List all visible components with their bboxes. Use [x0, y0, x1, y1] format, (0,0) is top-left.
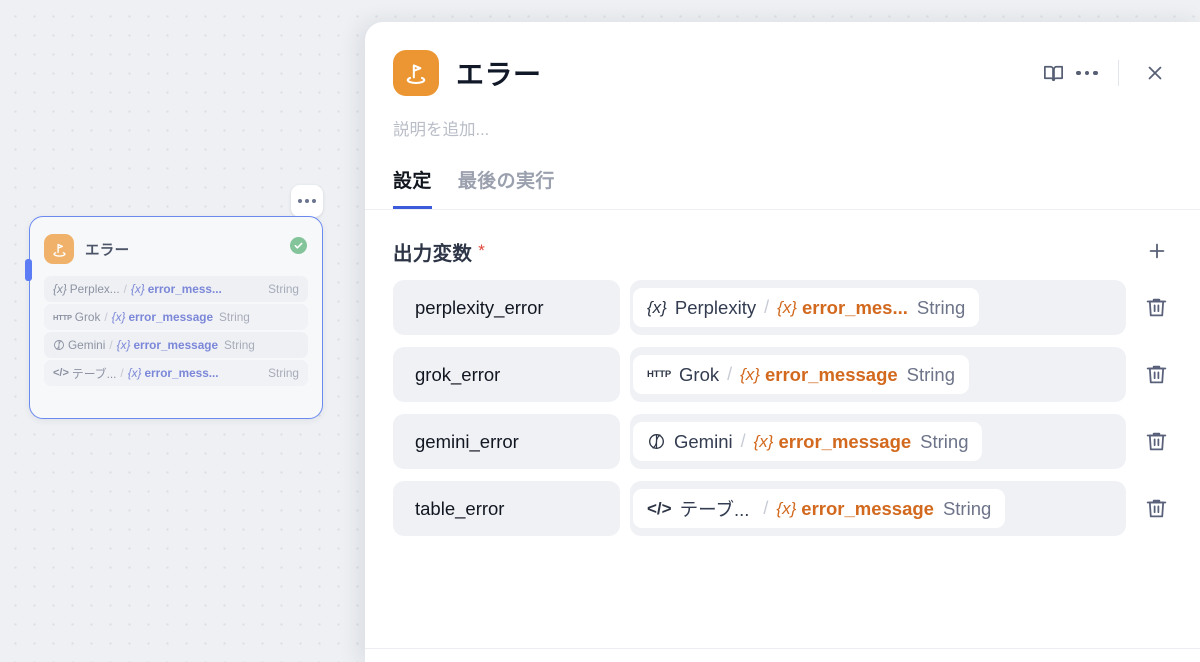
ellipsis-dot: [1076, 71, 1081, 76]
panel-tabs: 設定 最後の実行: [365, 140, 1200, 210]
variable-reference-chip[interactable]: HTTP Grok / {x} error_message String: [633, 355, 969, 394]
variable-name-input[interactable]: perplexity_error: [393, 280, 620, 335]
variable-icon: {x}: [740, 365, 760, 385]
output-variables-header: 出力変数 *: [365, 210, 1200, 266]
book-icon[interactable]: [1036, 56, 1070, 90]
variable-reference-chip[interactable]: Gemini / {x} error_message String: [633, 422, 982, 461]
node-header: エラー: [44, 230, 308, 268]
golf-flag-icon: [393, 50, 439, 96]
delete-variable-button[interactable]: [1136, 489, 1176, 529]
node-output-row[interactable]: Gemini / {x} error_message String: [44, 332, 308, 358]
variable-row: grok_error HTTP Grok / {x} error_message…: [393, 347, 1176, 402]
check-circle-icon: [290, 237, 307, 254]
ellipsis-dot: [312, 199, 316, 203]
node-row-separator: /: [124, 282, 127, 296]
node-row-source: Perplex...: [70, 282, 120, 296]
variable-reference-field[interactable]: {x} Perplexity / {x} error_mes... String: [630, 280, 1126, 335]
section-title: 出力変数: [393, 237, 472, 266]
node-title: エラー: [85, 239, 129, 260]
reference-type: String: [907, 364, 955, 386]
node-row-type: String: [219, 310, 250, 324]
add-variable-button[interactable]: [1142, 236, 1172, 266]
variable-icon: {x}: [647, 298, 667, 318]
node-row-source: Gemini: [68, 338, 105, 352]
gemini-icon: [53, 339, 65, 351]
node-row-variable: error_mess...: [148, 282, 222, 296]
reference-separator: /: [727, 364, 732, 385]
reference-variable: error_mes...: [802, 297, 908, 319]
header-divider: [1118, 60, 1119, 86]
variable-reference-chip[interactable]: </> テーブ... / {x} error_message String: [633, 489, 1005, 528]
ellipsis-dot: [305, 199, 309, 203]
node-detail-panel: エラー 説明を追加... 設定: [365, 22, 1200, 662]
workflow-node-card[interactable]: エラー {x} Perplex... / {x} error_mess... S…: [29, 216, 323, 419]
panel-footer-divider: [365, 648, 1200, 649]
code-icon: </>: [53, 367, 69, 379]
variable-row: perplexity_error {x} Perplexity / {x} er…: [393, 280, 1176, 335]
variable-icon: {x}: [777, 298, 797, 318]
gemini-icon: [647, 432, 666, 451]
node-row-variable: error_message: [133, 338, 218, 352]
reference-variable: error_message: [778, 431, 911, 453]
reference-source: Perplexity: [675, 297, 756, 319]
node-row-type: String: [268, 366, 299, 380]
ellipsis-icon[interactable]: [1070, 56, 1104, 90]
variable-row: gemini_error Gemini / {x} error_message …: [393, 414, 1176, 469]
node-row-type: String: [268, 282, 299, 296]
node-row-source: Grok: [75, 310, 101, 324]
node-row-separator: /: [120, 366, 123, 380]
variable-name-input[interactable]: grok_error: [393, 347, 620, 402]
tab-last-run[interactable]: 最後の実行: [458, 166, 555, 209]
required-marker: *: [478, 241, 485, 261]
node-row-separator: /: [109, 338, 112, 352]
variable-icon: {x}: [117, 338, 131, 352]
description-input[interactable]: 説明を追加...: [365, 98, 1200, 140]
http-icon: HTTP: [53, 313, 72, 322]
delete-variable-button[interactable]: [1136, 355, 1176, 395]
node-row-variable: error_message: [128, 310, 213, 324]
panel-header: エラー: [365, 22, 1200, 98]
node-row-variable: error_mess...: [144, 366, 218, 380]
tab-settings[interactable]: 設定: [393, 166, 432, 209]
variable-name-input[interactable]: gemini_error: [393, 414, 620, 469]
reference-type: String: [920, 431, 968, 453]
delete-variable-button[interactable]: [1136, 422, 1176, 462]
node-output-row[interactable]: {x} Perplex... / {x} error_mess... Strin…: [44, 276, 308, 302]
reference-type: String: [917, 297, 965, 319]
code-icon: </>: [647, 499, 672, 519]
golf-flag-icon: [44, 234, 74, 264]
variable-icon: {x}: [112, 310, 126, 324]
reference-type: String: [943, 498, 991, 520]
variable-icon: {x}: [53, 282, 67, 296]
ellipsis-dot: [1093, 71, 1098, 76]
variable-icon: {x}: [776, 499, 796, 519]
node-row-type: String: [224, 338, 255, 352]
variable-reference-field[interactable]: HTTP Grok / {x} error_message String: [630, 347, 1126, 402]
ellipsis-dot: [298, 199, 302, 203]
output-variables-list: perplexity_error {x} Perplexity / {x} er…: [365, 266, 1200, 536]
node-output-rows: {x} Perplex... / {x} error_mess... Strin…: [44, 276, 308, 386]
delete-variable-button[interactable]: [1136, 288, 1176, 328]
node-row-source: テーブ...: [72, 365, 117, 382]
node-output-row[interactable]: HTTP Grok / {x} error_message String: [44, 304, 308, 330]
node-input-handle[interactable]: [25, 259, 32, 281]
variable-reference-field[interactable]: Gemini / {x} error_message String: [630, 414, 1126, 469]
variable-name-input[interactable]: table_error: [393, 481, 620, 536]
node-row-separator: /: [104, 310, 107, 324]
node-output-row[interactable]: </> テーブ... / {x} error_mess... String: [44, 360, 308, 386]
ellipsis-dot: [1085, 71, 1090, 76]
reference-variable: error_message: [801, 498, 934, 520]
reference-source: Grok: [679, 364, 719, 386]
variable-reference-chip[interactable]: {x} Perplexity / {x} error_mes... String: [633, 288, 979, 327]
variable-row: table_error </> テーブ... / {x} error_messa…: [393, 481, 1176, 536]
node-menu-button[interactable]: [291, 185, 323, 217]
reference-source: テーブ...: [680, 496, 750, 522]
variable-icon: {x}: [754, 432, 774, 452]
page-title: エラー: [456, 53, 542, 93]
reference-source: Gemini: [674, 431, 733, 453]
header-actions: [1036, 56, 1172, 90]
variable-icon: {x}: [131, 282, 145, 296]
close-icon[interactable]: [1138, 56, 1172, 90]
reference-separator: /: [741, 431, 746, 452]
variable-icon: {x}: [128, 366, 142, 380]
reference-variable: error_message: [765, 364, 898, 386]
http-icon: HTTP: [647, 369, 671, 380]
reference-separator: /: [764, 297, 769, 318]
variable-reference-field[interactable]: </> テーブ... / {x} error_message String: [630, 481, 1126, 536]
reference-separator: /: [763, 498, 768, 519]
